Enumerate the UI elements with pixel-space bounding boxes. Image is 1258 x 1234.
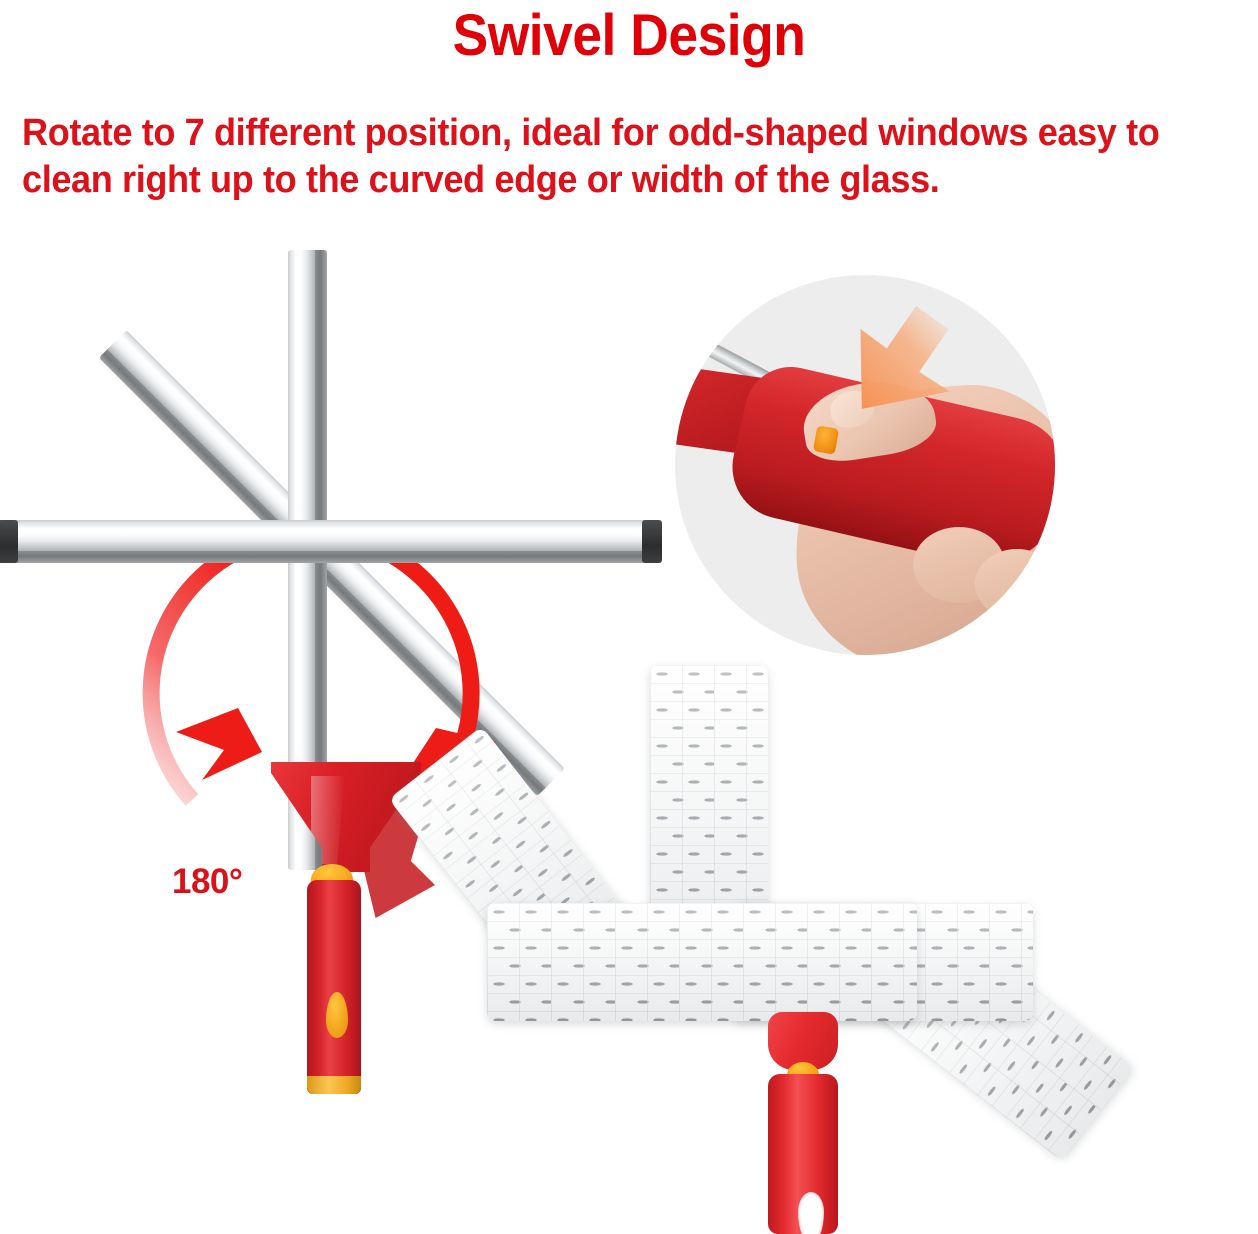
handle-base-cap xyxy=(307,1076,361,1094)
blade-end-cap-right xyxy=(642,520,662,563)
microfiber-pad xyxy=(487,903,917,1021)
grip-insert xyxy=(326,992,348,1038)
hand-grip-inset-photo xyxy=(675,275,1055,655)
knuckle xyxy=(975,549,1055,619)
blade-end-cap-left xyxy=(0,520,18,563)
product-feature-image: Swivel Design Rotate to 7 different posi… xyxy=(0,0,1258,1234)
pad-shading xyxy=(487,903,917,1021)
page-title: Swivel Design xyxy=(50,4,1207,68)
hang-hole xyxy=(798,1192,824,1234)
handle-grip xyxy=(307,880,361,1094)
blade-metal-body xyxy=(0,520,660,554)
microfiber-washer xyxy=(555,660,1258,1234)
washer-handle xyxy=(760,1012,846,1234)
horizontal-blade xyxy=(0,520,660,554)
page-subtitle: Rotate to 7 different position, ideal fo… xyxy=(22,110,1198,204)
rotation-degree-label: 180° xyxy=(172,862,242,902)
washer-grip xyxy=(768,1074,838,1234)
swivel-release-button[interactable] xyxy=(813,425,839,454)
blade-rubber-edge xyxy=(0,551,660,563)
swivel-head-highlight xyxy=(311,776,345,864)
press-arrow-icon xyxy=(853,300,983,420)
